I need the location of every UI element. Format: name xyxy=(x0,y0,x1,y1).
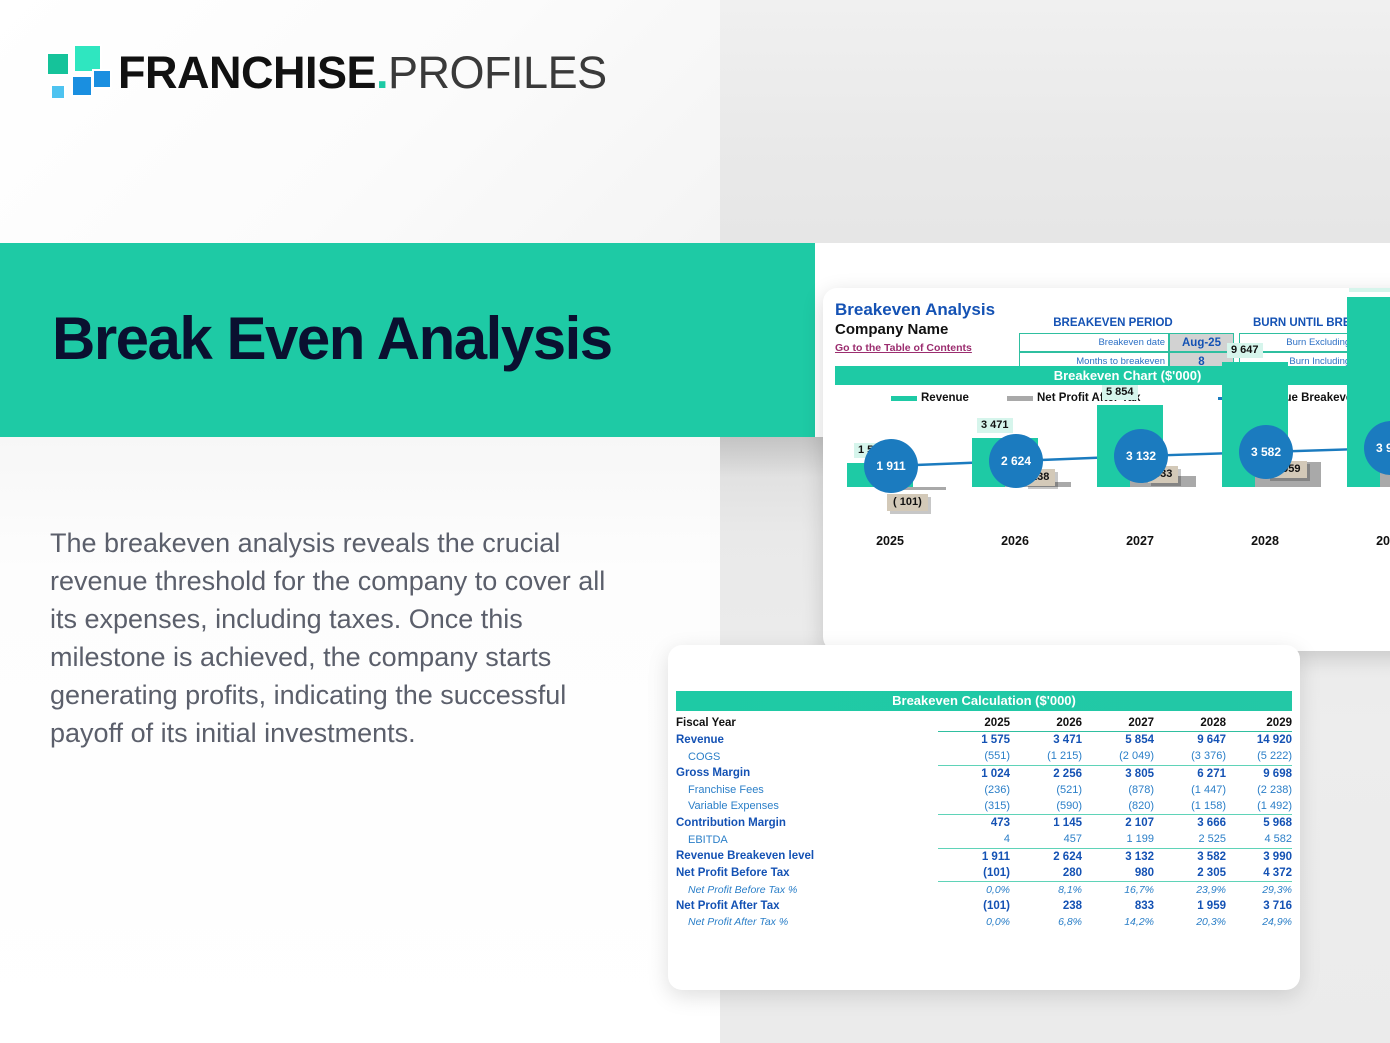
row-value: 980 xyxy=(1082,865,1154,882)
row-value: 9 647 xyxy=(1154,732,1226,749)
row-value: 280 xyxy=(1010,865,1082,882)
bubble-breakeven-2028: 3 582 xyxy=(1239,425,1293,479)
row-value: 238 xyxy=(1010,898,1082,914)
breakeven-chart-card: Breakeven Analysis Company Name Go to th… xyxy=(823,288,1390,651)
row-value: (590) xyxy=(1010,798,1082,815)
chart-card-inner: Breakeven Analysis Company Name Go to th… xyxy=(823,288,1390,651)
row-value: 5 968 xyxy=(1226,815,1292,832)
table-row: Net Profit After Tax (101) 238 833 1 959… xyxy=(676,898,1292,914)
row-value: 2 107 xyxy=(1082,815,1154,832)
row-value: (1 158) xyxy=(1154,798,1226,815)
row-value: 6,8% xyxy=(1010,914,1082,930)
bubble-breakeven-2025: 1 911 xyxy=(864,439,918,493)
row-value: 3 805 xyxy=(1082,765,1154,782)
bar-label-revenue-2026: 3 471 xyxy=(977,418,1013,433)
row-value: 9 698 xyxy=(1226,765,1292,782)
row-value: (878) xyxy=(1082,782,1154,798)
row-label: Revenue Breakeven level xyxy=(676,848,938,865)
row-value: 1 145 xyxy=(1010,815,1082,832)
table-col-fiscal-year: Fiscal Year xyxy=(676,715,938,732)
table-title-band: Breakeven Calculation ($'000) xyxy=(676,691,1292,711)
hero-description: The breakeven analysis reveals the cruci… xyxy=(50,524,622,752)
legend-swatch-revenue xyxy=(891,396,917,401)
row-label: Net Profit Before Tax % xyxy=(676,881,938,898)
table-header-row: Fiscal Year 2025 2026 2027 2028 2029 xyxy=(676,715,1292,732)
table-col-2028: 2028 xyxy=(1154,715,1226,732)
row-value: 20,3% xyxy=(1154,914,1226,930)
table-of-contents-link[interactable]: Go to the Table of Contents xyxy=(835,342,972,354)
row-label: Franchise Fees xyxy=(676,782,938,798)
row-value: 0,0% xyxy=(938,914,1010,930)
chart-plot-area: 1 575 ( 101) 1 911 2025 3 471 238 2 624 … xyxy=(823,410,1390,651)
bar-label-revenue-2029: 14 920 xyxy=(1349,288,1390,292)
row-value: (2 238) xyxy=(1226,782,1292,798)
breakeven-calculation-card: Breakeven Calculation ($'000) Fiscal Yea… xyxy=(668,645,1300,990)
row-value: (1 492) xyxy=(1226,798,1292,815)
logo-word-light: PROFILES xyxy=(388,47,607,98)
chart-card-title: Breakeven Analysis xyxy=(835,300,995,320)
breakeven-date-value: Aug-25 xyxy=(1169,333,1234,352)
row-value: 3 471 xyxy=(1010,732,1082,749)
row-value: 6 271 xyxy=(1154,765,1226,782)
slide-canvas: FRANCHISE.PROFILES Break Even Analysis T… xyxy=(0,0,1390,1043)
row-value: 4 xyxy=(938,831,1010,848)
page-title: Break Even Analysis xyxy=(52,309,612,369)
row-value: 1 199 xyxy=(1082,831,1154,848)
row-value: 3 990 xyxy=(1226,848,1292,865)
table-row: Net Profit Before Tax (101) 280 980 2 30… xyxy=(676,865,1292,882)
row-value: 2 624 xyxy=(1010,848,1082,865)
row-value: (101) xyxy=(938,898,1010,914)
row-value: (1 447) xyxy=(1154,782,1226,798)
table-row: COGS (551) (1 215) (2 049) (3 376) (5 22… xyxy=(676,748,1292,765)
row-value: 1 959 xyxy=(1154,898,1226,914)
table-row: Variable Expenses (315) (590) (820) (1 1… xyxy=(676,798,1292,815)
logo-mark-icon xyxy=(46,44,108,100)
row-value: (5 222) xyxy=(1226,748,1292,765)
axis-label-2027: 2027 xyxy=(1090,534,1190,548)
table-col-2025: 2025 xyxy=(938,715,1010,732)
row-value: 3 716 xyxy=(1226,898,1292,914)
brand-logo: FRANCHISE.PROFILES xyxy=(46,44,536,106)
breakeven-date-label: Breakeven date xyxy=(1019,333,1169,352)
background-panel-top-left xyxy=(0,0,720,243)
row-value: (521) xyxy=(1010,782,1082,798)
row-value: 4 372 xyxy=(1226,865,1292,882)
row-value: (551) xyxy=(938,748,1010,765)
chart-card-company-name: Company Name xyxy=(835,321,948,338)
row-value: 2 256 xyxy=(1010,765,1082,782)
row-value: 23,9% xyxy=(1154,881,1226,898)
row-value: 1 575 xyxy=(938,732,1010,749)
row-value: 1 024 xyxy=(938,765,1010,782)
row-value: 8,1% xyxy=(1010,881,1082,898)
logo-dot: . xyxy=(376,47,388,98)
bar-label-revenue-2027: 5 854 xyxy=(1102,385,1138,400)
row-label: EBITDA xyxy=(676,831,938,848)
row-label: Contribution Margin xyxy=(676,815,938,832)
row-value: (1 215) xyxy=(1010,748,1082,765)
legend-swatch-net-profit-after-tax xyxy=(1007,396,1033,401)
table-col-2029: 2029 xyxy=(1226,715,1292,732)
row-value: 2 525 xyxy=(1154,831,1226,848)
table-row: Revenue Breakeven level 1 911 2 624 3 13… xyxy=(676,848,1292,865)
bubble-breakeven-2027: 3 132 xyxy=(1114,429,1168,483)
row-label: Net Profit Before Tax xyxy=(676,865,938,882)
bar-label-net-profit-2025: ( 101) xyxy=(887,494,928,511)
table-row: Contribution Margin 473 1 145 2 107 3 66… xyxy=(676,815,1292,832)
row-value: 14,2% xyxy=(1082,914,1154,930)
chart-title-band: Breakeven Chart ($'000) xyxy=(835,366,1390,385)
row-value: (236) xyxy=(938,782,1010,798)
row-label: Gross Margin xyxy=(676,765,938,782)
row-value: 3 666 xyxy=(1154,815,1226,832)
row-value: (820) xyxy=(1082,798,1154,815)
table-col-2026: 2026 xyxy=(1010,715,1082,732)
row-label: Net Profit After Tax xyxy=(676,898,938,914)
row-value: 833 xyxy=(1082,898,1154,914)
row-value: 473 xyxy=(938,815,1010,832)
row-value: 2 305 xyxy=(1154,865,1226,882)
row-value: 3 582 xyxy=(1154,848,1226,865)
bubble-breakeven-2026: 2 624 xyxy=(989,434,1043,488)
table-row: Franchise Fees (236) (521) (878) (1 447)… xyxy=(676,782,1292,798)
table-row: EBITDA 4 457 1 199 2 525 4 582 xyxy=(676,831,1292,848)
legend-label-revenue: Revenue xyxy=(921,389,969,407)
logo-word-bold: FRANCHISE xyxy=(118,47,376,98)
table-row: Net Profit After Tax % 0,0% 6,8% 14,2% 2… xyxy=(676,914,1292,930)
breakeven-period-heading: BREAKEVEN PERIOD xyxy=(1013,317,1213,329)
breakeven-calculation-table: Fiscal Year 2025 2026 2027 2028 2029 Rev… xyxy=(676,715,1292,930)
axis-label-2025: 2025 xyxy=(840,534,940,548)
row-value: 24,9% xyxy=(1226,914,1292,930)
row-value: 4 582 xyxy=(1226,831,1292,848)
row-value: 0,0% xyxy=(938,881,1010,898)
table-row: Net Profit Before Tax % 0,0% 8,1% 16,7% … xyxy=(676,881,1292,898)
table-row: Revenue 1 575 3 471 5 854 9 647 14 920 xyxy=(676,732,1292,749)
row-label: COGS xyxy=(676,748,938,765)
row-value: (3 376) xyxy=(1154,748,1226,765)
logo-wordmark: FRANCHISE.PROFILES xyxy=(118,47,607,99)
row-label: Revenue xyxy=(676,732,938,749)
row-value: 457 xyxy=(1010,831,1082,848)
row-value: 3 132 xyxy=(1082,848,1154,865)
table-col-2027: 2027 xyxy=(1082,715,1154,732)
axis-label-2028: 2028 xyxy=(1215,534,1315,548)
background-panel-top-right xyxy=(720,0,1390,243)
axis-label-2026: 2026 xyxy=(965,534,1065,548)
row-value: 1 911 xyxy=(938,848,1010,865)
row-value: 5 854 xyxy=(1082,732,1154,749)
table-body: Fiscal Year 2025 2026 2027 2028 2029 Rev… xyxy=(676,715,1292,930)
bar-label-revenue-2028: 9 647 xyxy=(1227,343,1263,358)
row-value: (101) xyxy=(938,865,1010,882)
row-value: 14 920 xyxy=(1226,732,1292,749)
row-label: Net Profit After Tax % xyxy=(676,914,938,930)
row-value: (315) xyxy=(938,798,1010,815)
row-value: 16,7% xyxy=(1082,881,1154,898)
row-value: 29,3% xyxy=(1226,881,1292,898)
row-value: (2 049) xyxy=(1082,748,1154,765)
row-label: Variable Expenses xyxy=(676,798,938,815)
axis-label-2029: 2029 xyxy=(1340,534,1390,548)
table-row: Gross Margin 1 024 2 256 3 805 6 271 9 6… xyxy=(676,765,1292,782)
